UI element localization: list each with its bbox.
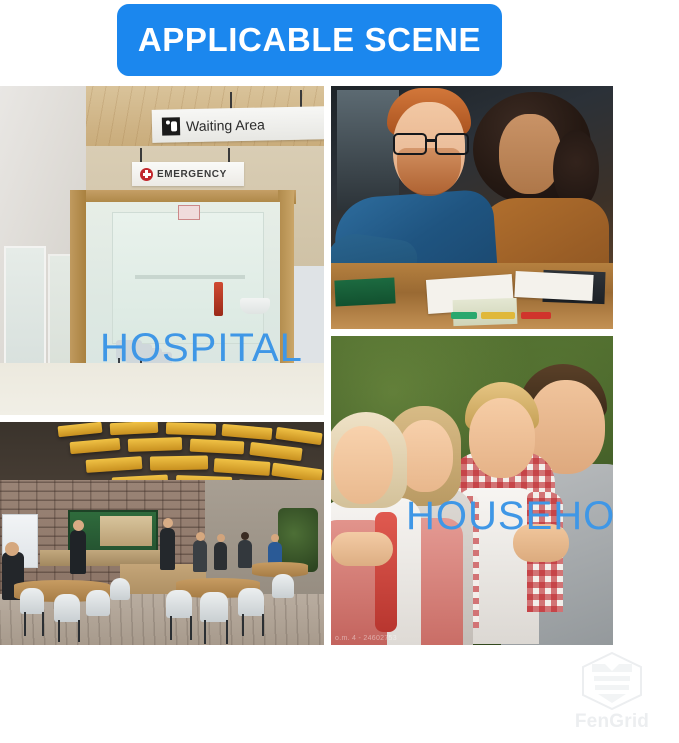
fengrid-wordmark: FenGrid — [575, 711, 649, 733]
applicable-scene-banner: APPLICABLE SCENE — [117, 4, 502, 76]
office-person-head — [163, 518, 173, 528]
scene-panel-school: SCHOOL — [331, 86, 613, 329]
household-boy-face — [469, 398, 535, 478]
office-ceiling-baffle — [166, 422, 216, 436]
fengrid-logo: FenGrid — [553, 652, 671, 738]
office-ceiling-baffle — [128, 437, 182, 452]
office-ceiling-baffle — [275, 427, 322, 445]
glasses-lens-left — [393, 133, 427, 155]
office-person-head — [196, 532, 205, 541]
office-chair-leg — [58, 620, 60, 642]
school-paper-sheet — [514, 271, 593, 301]
hospital-photo: Waiting Area EMERGENCY — [0, 86, 324, 415]
banner-title: APPLICABLE SCENE — [138, 21, 481, 59]
school-woman-face — [499, 114, 561, 194]
office-chair — [238, 588, 264, 616]
office-chair — [86, 590, 110, 616]
household-mother-arm — [331, 532, 393, 566]
fengrid-hexagon-icon — [579, 652, 645, 710]
office-chair — [110, 578, 130, 600]
office-chair-leg — [242, 614, 244, 636]
waiting-area-sign-label: Waiting Area — [186, 116, 265, 134]
office-open-shelf — [100, 516, 152, 546]
office-chair-leg — [170, 616, 172, 640]
office-person — [160, 528, 175, 570]
office-chair-leg — [226, 620, 228, 644]
office-person — [193, 540, 207, 572]
office-chair — [272, 574, 294, 598]
scene-panel-office: OFFICE — [0, 422, 324, 645]
office-chair — [54, 594, 80, 622]
school-photo — [331, 86, 613, 329]
office-ceiling-baffle — [150, 455, 208, 470]
office-ceiling-baffle — [190, 439, 245, 455]
office-ceiling-baffle — [70, 438, 121, 454]
school-marker-green — [451, 312, 477, 319]
office-ceiling-baffle — [222, 424, 273, 440]
school-man-glasses — [393, 133, 469, 151]
household-mother-face — [333, 426, 393, 504]
hospital-sink — [240, 298, 270, 314]
office-person-head — [271, 534, 279, 542]
office-ceiling-baffle — [249, 442, 302, 461]
office-person-head — [73, 520, 84, 531]
office-ceiling-baffle — [110, 422, 159, 435]
office-person-head — [217, 534, 225, 542]
school-marker-yellow — [481, 312, 515, 319]
household-boy-arm — [513, 524, 569, 562]
office-person-head — [5, 542, 19, 556]
school-green-notebook — [334, 277, 395, 306]
hospital-fire-extinguisher — [214, 282, 223, 316]
office-chair-leg — [42, 612, 44, 636]
glasses-lens-right — [435, 133, 469, 155]
household-watermark: o.m. 4 - 24602753 — [335, 635, 397, 642]
household-photo: o.m. 4 - 24602753 — [331, 336, 613, 645]
office-chair-leg — [78, 620, 80, 642]
hospital-inner-door — [112, 212, 264, 344]
hospital-exit-sign — [178, 205, 200, 220]
school-desk — [331, 263, 613, 329]
office-chair-leg — [190, 616, 192, 640]
office-chair — [200, 592, 228, 622]
office-ceiling-baffle — [58, 422, 103, 437]
office-ceiling-baffle — [214, 458, 271, 476]
scene-panel-household: o.m. 4 - 24602753 HOUSEHOLD — [331, 336, 613, 645]
office-person — [70, 530, 86, 574]
red-cross-icon — [140, 168, 153, 181]
office-photo — [0, 422, 324, 645]
hospital-emergency-sign: EMERGENCY — [132, 162, 244, 186]
office-chair-leg — [24, 612, 26, 636]
household-mother-strap — [375, 512, 397, 632]
hospital-waiting-area-sign: Waiting Area — [152, 106, 324, 143]
hospital-foreground-floor — [0, 363, 324, 415]
scene-panel-hospital: Waiting Area EMERGENCY HOSPITAL — [0, 86, 324, 415]
waiting-area-pictogram-icon — [162, 117, 180, 135]
office-chair-leg — [262, 614, 264, 636]
office-chair — [20, 588, 44, 614]
office-person — [238, 540, 252, 568]
school-marker-red — [521, 312, 551, 319]
office-chair — [166, 590, 192, 618]
office-person — [214, 542, 227, 570]
office-person-head — [241, 532, 249, 540]
office-chair-leg — [204, 620, 206, 644]
office-ceiling-baffle — [86, 456, 143, 473]
emergency-sign-label: EMERGENCY — [157, 169, 227, 180]
